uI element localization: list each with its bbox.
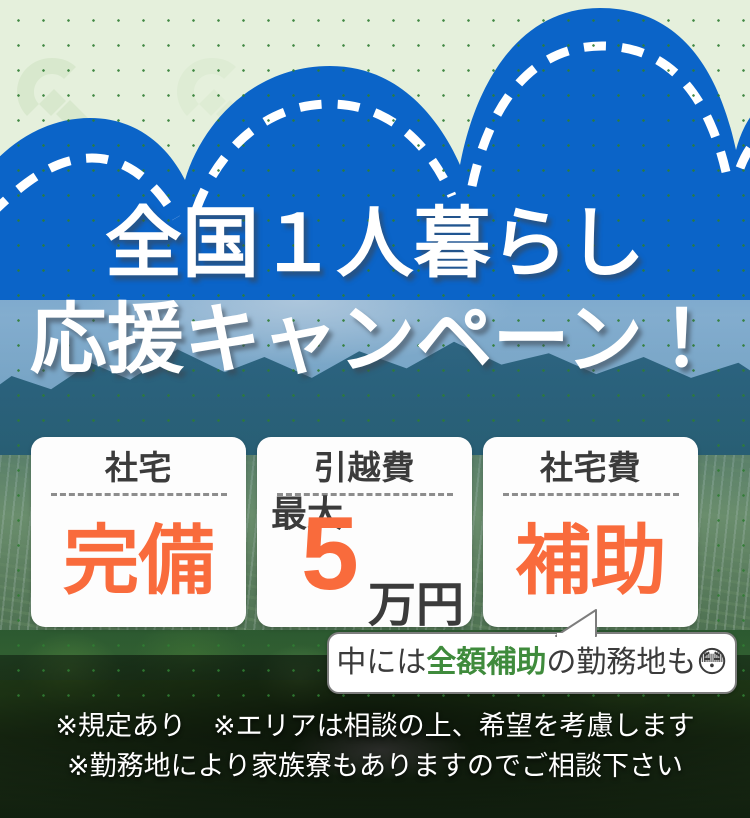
headline-line-2: 応援キャンペーン！ [0, 292, 750, 388]
speech-bubble: 中には全額補助の勤務地も😳 [327, 632, 737, 694]
card-value-text: 完備 [63, 522, 213, 602]
speech-bubble-text: 中には全額補助の勤務地も😳 [336, 646, 727, 680]
page-title: 全国１人暮らし 応援キャンペーン！ [0, 196, 750, 388]
amount-number: 5 [301, 502, 359, 606]
campaign-banner: 全国１人暮らし 応援キャンペーン！ 社宅 完備 引越費 最大 5 万円 社宅費 [0, 0, 750, 818]
card-company-housing: 社宅 完備 [31, 437, 246, 627]
card-header-label: 引越費 [314, 448, 415, 488]
card-value-area: 補助 [483, 496, 698, 627]
footnote-line-2: ※勤務地により家族寮もありますのでご相談下さい [0, 746, 750, 786]
flushed-face-emoji: 😳 [696, 646, 727, 679]
amount-unit-label: 万円 [368, 581, 464, 631]
card-value-area: 完備 [31, 496, 246, 627]
footnote-group: ※規定あり ※エリアは相談の上、希望を考慮します ※勤務地により家族寮もあります… [0, 706, 750, 786]
bubble-lead-text: 中には [336, 646, 426, 679]
card-value-text: 補助 [515, 522, 665, 602]
card-value-area: 最大 5 万円 [257, 496, 472, 627]
card-housing-subsidy: 社宅費 補助 [483, 437, 698, 627]
card-header-label: 社宅 [105, 448, 172, 488]
headline-line-1: 全国１人暮らし [0, 196, 750, 292]
footnote-line-1: ※規定あり ※エリアは相談の上、希望を考慮します [0, 706, 750, 746]
card-moving-expenses: 引越費 最大 5 万円 [257, 437, 472, 627]
feature-card-group: 社宅 完備 引越費 最大 5 万円 社宅費 補助 [31, 437, 719, 627]
speech-bubble-tail [553, 609, 597, 637]
bubble-trail-text: の勤務地も [546, 646, 696, 679]
bubble-emphasis-text: 全額補助 [426, 646, 546, 679]
card-header-label: 社宅費 [540, 448, 641, 488]
